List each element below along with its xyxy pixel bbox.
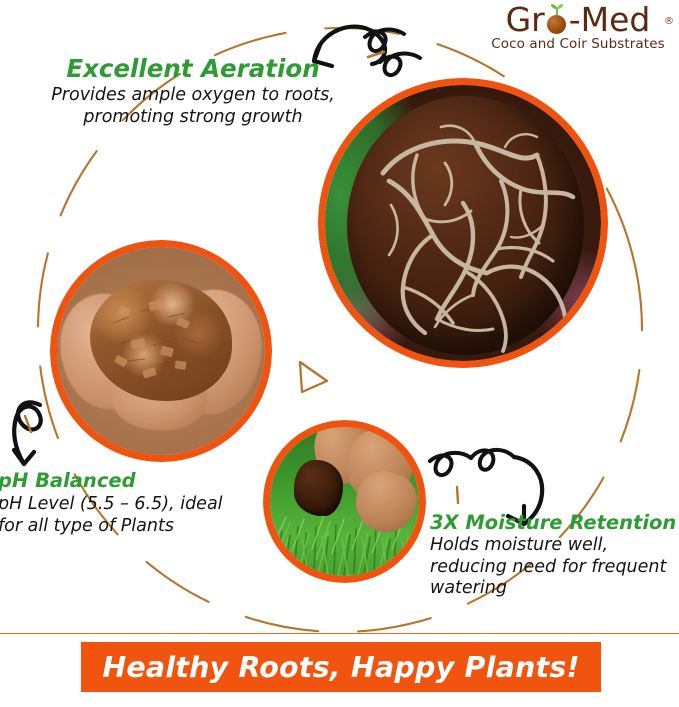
photo-root-ball (318, 78, 608, 368)
photo-moist-coco-peat (263, 420, 426, 583)
tick-mark-left-icon (25, 416, 31, 432)
brand-logo: Gr -Med ® Coco and Coir Substrates (485, 2, 671, 58)
feature-ph-body: pH Level (5.5 – 6.5), ideal for all type… (0, 494, 248, 537)
photo-moist-coco-peat-image (270, 427, 419, 576)
infographic-canvas: Gr -Med ® Coco and Coir Substrates (0, 0, 679, 707)
tick-mark-top-icon (368, 52, 384, 57)
tick-mark-right-icon (457, 487, 458, 503)
feature-ph: pH Balanced pH Level (5.5 – 6.5), ideal … (0, 470, 248, 537)
photo-root-ball-image (325, 85, 601, 361)
feature-aeration-body: Provides ample oxygen to roots, promotin… (28, 85, 358, 128)
feature-moisture: 3X Moisture Retention Holds moisture wel… (430, 512, 679, 600)
brand-name-part2: -Med (569, 0, 651, 39)
feature-aeration: Excellent Aeration Provides ample oxygen… (28, 56, 358, 129)
brand-name-part1: Gr (506, 0, 545, 39)
photo-hands-coco-chips (50, 240, 272, 462)
brand-wordmark: Gr -Med ® (485, 2, 671, 38)
sprouting-seed-icon (545, 10, 569, 34)
divider-line (0, 633, 679, 634)
photo-hands-coco-chips-image (57, 247, 265, 455)
tagline-banner-text: Healthy Roots, Happy Plants! (102, 651, 579, 684)
feature-moisture-body: Holds moisture well, reducing need for f… (430, 535, 679, 600)
triangle-outline-icon (300, 362, 327, 392)
feature-aeration-heading: Excellent Aeration (28, 56, 358, 82)
feature-moisture-heading: 3X Moisture Retention (430, 512, 679, 533)
curved-arrow-down-left-side-icon (14, 402, 41, 464)
squiggle-loop-top-icon (365, 30, 420, 76)
feature-ph-heading: pH Balanced (0, 470, 248, 491)
tagline-banner: Healthy Roots, Happy Plants! (81, 642, 601, 692)
registered-mark-icon: ® (664, 4, 674, 40)
squiggle-loop-right-icon (430, 450, 514, 475)
